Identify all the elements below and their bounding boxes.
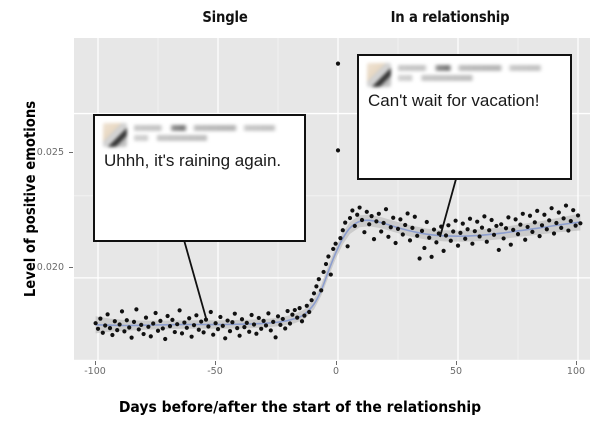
avatar-blurred-icon [367, 63, 391, 87]
x-tick-label-zero: 0 [316, 366, 356, 377]
y-tick-mark-0025 [69, 152, 73, 153]
y-axis-title: Level of positive emotions [21, 49, 39, 348]
blurred-text-line [398, 65, 562, 71]
facet-title-in-a-relationship: In a relationship [366, 8, 533, 26]
x-tick-mark-50 [456, 361, 457, 365]
y-tick-label-0020: 0.020 [20, 262, 64, 273]
x-tick-mark-minus50 [215, 361, 216, 365]
x-tick-mark-zero [336, 361, 337, 365]
x-tick-label-50: 50 [436, 366, 476, 377]
avatar-blurred-icon [103, 123, 127, 147]
chart-figure: Single In a relationship Level of positi… [0, 0, 600, 432]
callout-right-name-blurred [398, 63, 562, 85]
callout-right[interactable]: Can't wait for vacation! [357, 54, 572, 180]
x-tick-label-minus50: -50 [195, 366, 235, 377]
x-tick-label-minus100: -100 [75, 366, 115, 377]
blurred-text-line [398, 75, 500, 81]
x-tick-mark-minus100 [95, 361, 96, 365]
callout-left-header [95, 116, 304, 149]
callout-right-text: Can't wait for vacation! [359, 89, 570, 117]
y-tick-label-0025: 0.025 [20, 147, 64, 158]
facet-title-single: Single [141, 8, 308, 26]
callout-left-name-blurred [134, 123, 296, 145]
callout-left-text: Uhhh, it's raining again. [95, 149, 304, 177]
blurred-text-line [134, 135, 234, 141]
blurred-text-line [134, 125, 296, 131]
callout-right-header [359, 56, 570, 89]
x-tick-label-100: 100 [556, 366, 596, 377]
x-tick-mark-100 [576, 361, 577, 365]
x-axis-title: Days before/after the start of the relat… [30, 398, 570, 416]
y-tick-mark-0020 [69, 267, 73, 268]
callout-left[interactable]: Uhhh, it's raining again. [93, 114, 306, 242]
